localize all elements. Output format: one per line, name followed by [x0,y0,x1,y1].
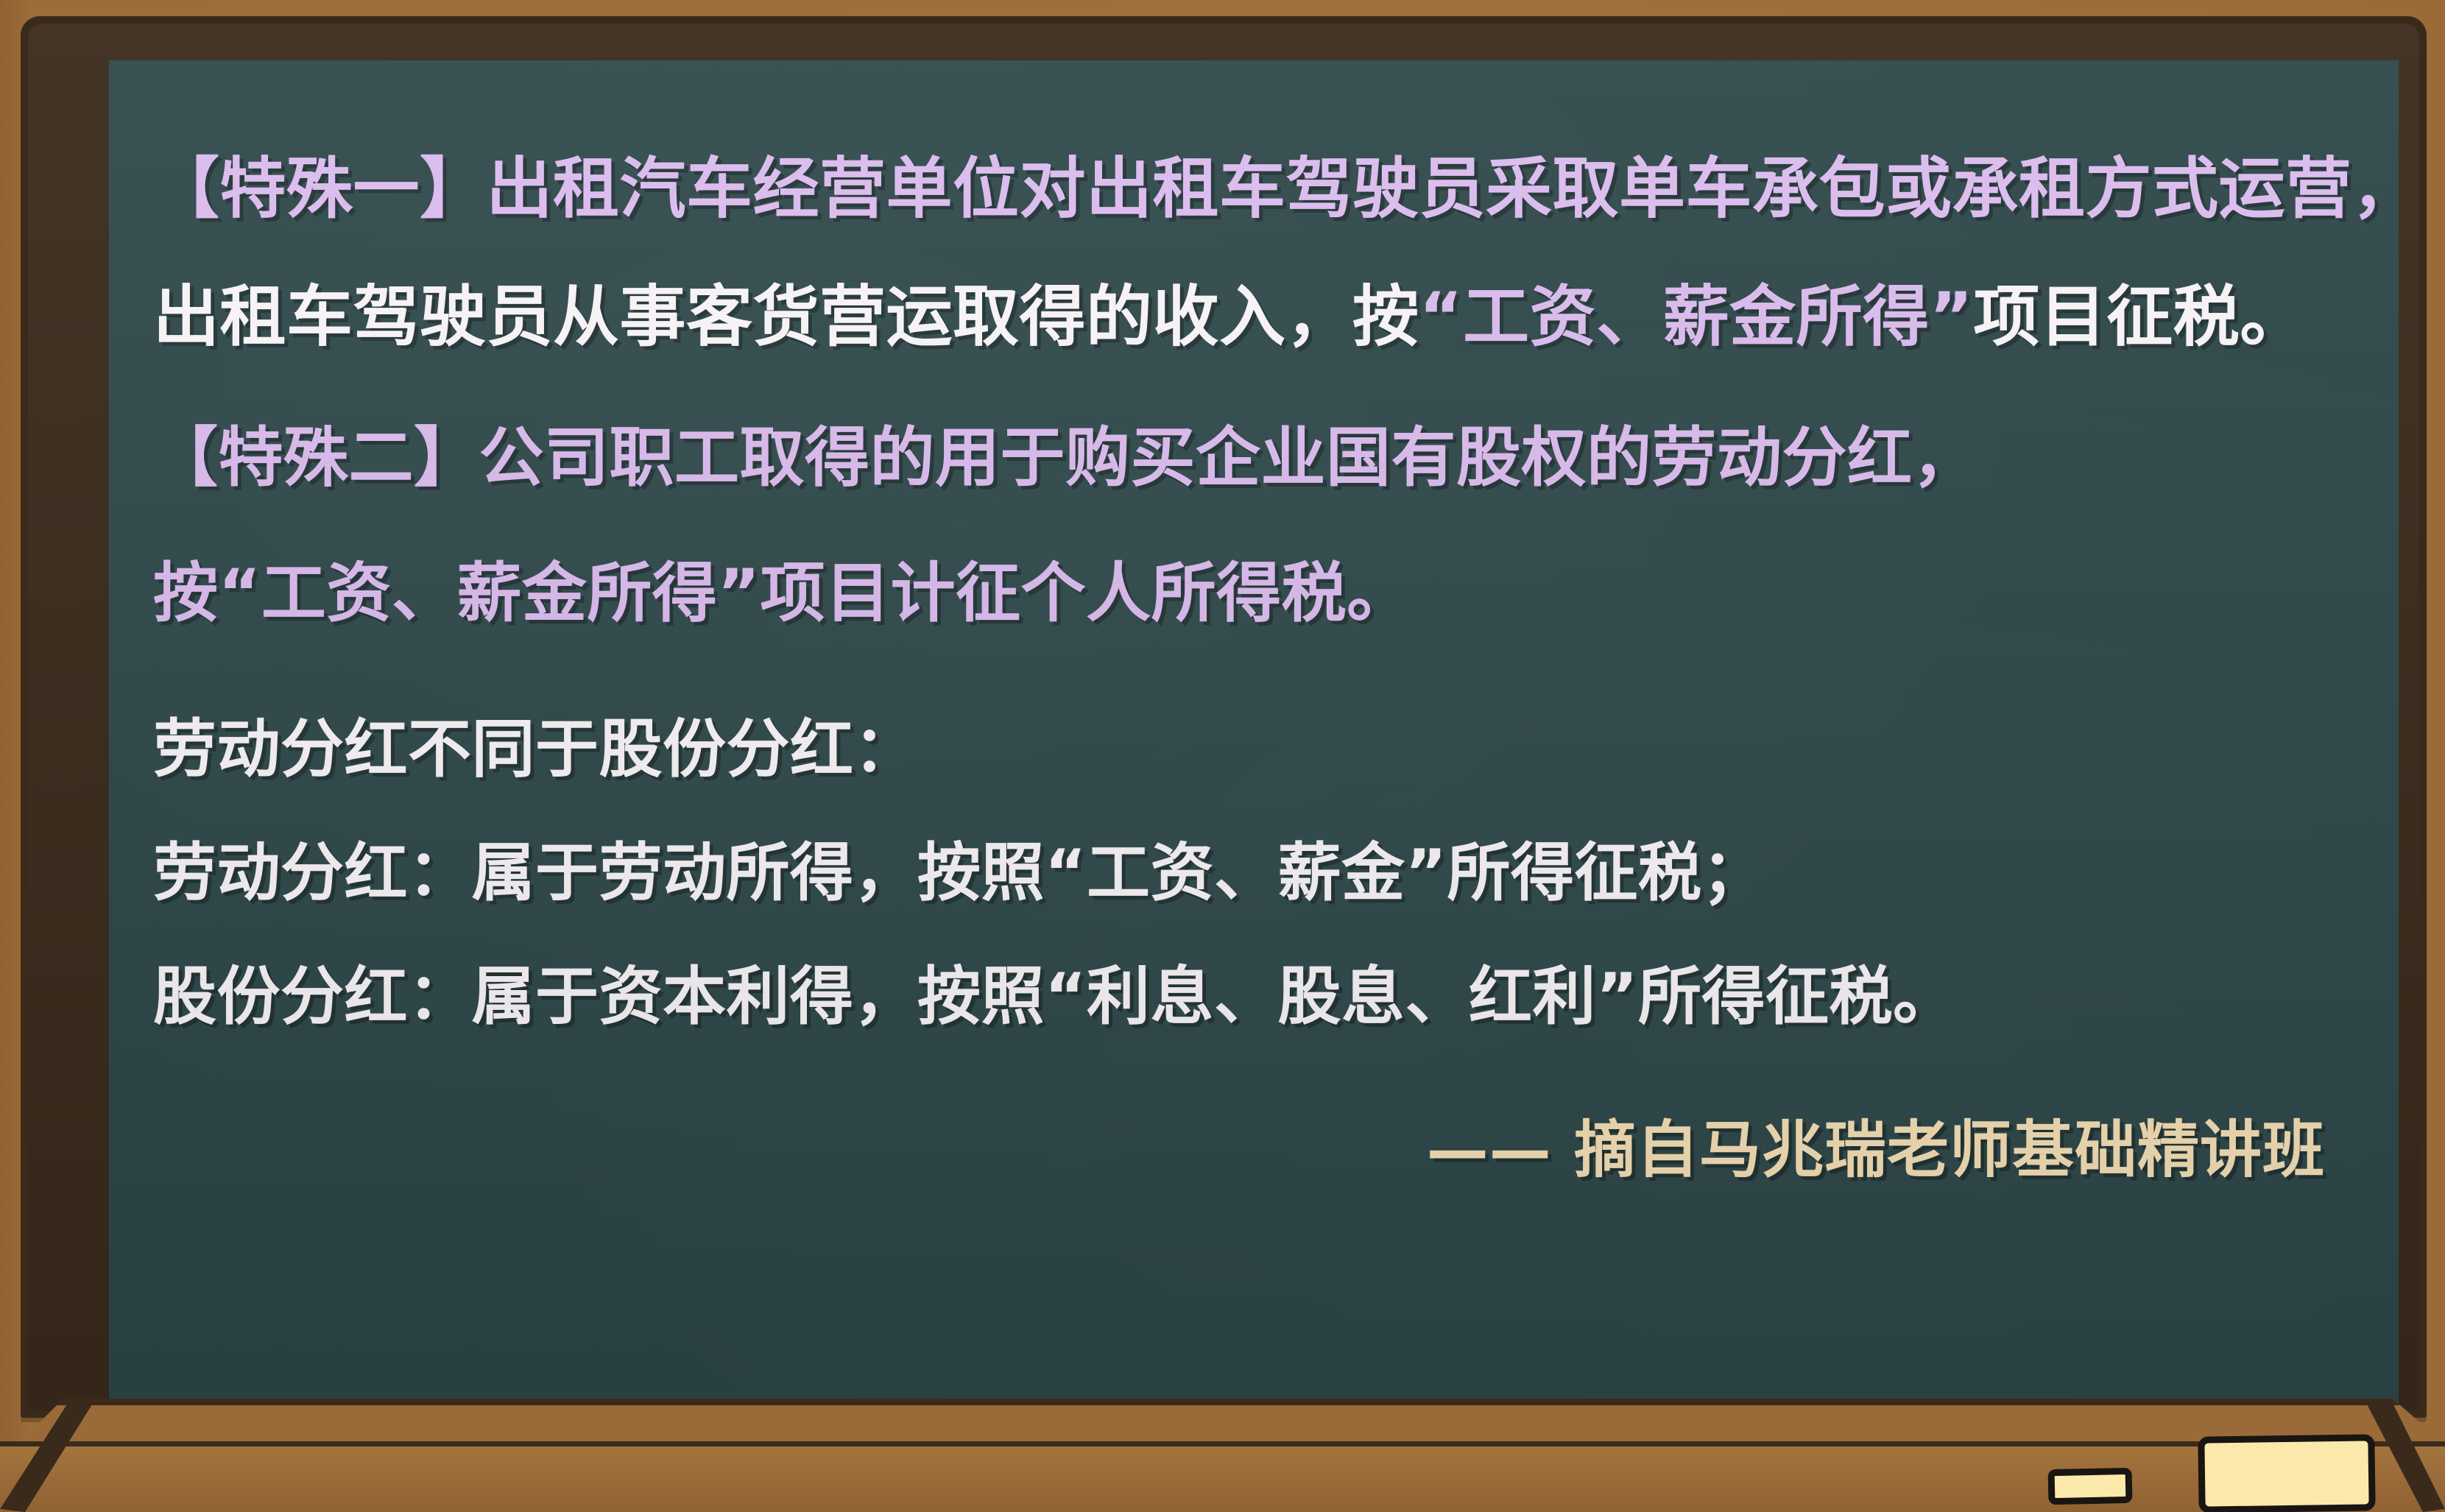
paragraph-comparison: 劳动分红不同于股份分红： 劳动分红：属于劳动所得，按照“工资、薪金”所得征税； … [153,704,2369,1042]
chalk-stick-icon[interactable] [2048,1468,2133,1505]
special-one-line-2-part-c: 项目征税。 [1973,278,2307,356]
comparison-heading: 劳动分红不同于股份分红： [153,704,2369,795]
paragraph-special-one: 【特殊一】出租汽车经营单位对出租车驾驶员采取单车承包或承租方式运营， 出租车驾驶… [153,141,2369,365]
special-one-line-2-quoted-term: “工资、薪金所得” [1419,278,1974,356]
chalkboard-frame: 【特殊一】出租汽车经营单位对出租车驾驶员采取单车承包或承租方式运营， 出租车驾驶… [21,16,2427,1418]
spacer [153,365,2369,411]
blackboard-eraser-icon[interactable] [2198,1434,2375,1512]
spacer [153,919,2369,951]
special-two-line-2: 按“工资、薪金所得”项目计征个人所得税。 [153,546,2369,640]
board-content: 【特殊一】出租汽车经营单位对出租车驾驶员采取单车承包或承租方式运营， 出租车驾驶… [153,141,2369,1194]
chalkboard-surface: 【特殊一】出租汽车经营单位对出租车驾驶员采取单车承包或承租方式运营， 出租车驾驶… [109,60,2399,1428]
spacer [153,1042,2369,1106]
comparison-row-share-dividend: 股份分红：属于资本利得，按照“利息、股息、红利”所得征税。 [153,951,2369,1042]
special-one-line-2-part-a: 出租车驾驶员从事客货营运取得的收入，按 [153,278,1419,356]
chalkboard-scene: 【特殊一】出租汽车经营单位对出租车驾驶员采取单车承包或承租方式运营， 出租车驾驶… [0,0,2445,1512]
spacer [153,640,2369,704]
special-one-line-1: 【特殊一】出租汽车经营单位对出租车驾驶员采取单车承包或承租方式运营， [153,141,2369,237]
special-one-line-2: 出租车驾驶员从事客货营运取得的收入，按“工资、薪金所得”项目征税。 [153,269,2369,365]
comparison-row-labor-dividend: 劳动分红：属于劳动所得，按照“工资、薪金”所得征税； [153,827,2369,919]
paragraph-special-two: 【特殊二】公司职工取得的用于购买企业国有股权的劳动分红， 按“工资、薪金所得”项… [153,411,2369,640]
spacer [153,237,2369,269]
spacer [153,795,2369,827]
attribution-source: —— 摘自马兆瑞老师基础精讲班 [153,1106,2369,1194]
special-two-line-1: 【特殊二】公司职工取得的用于购买企业国有股权的劳动分红， [153,411,2369,505]
spacer [153,505,2369,546]
